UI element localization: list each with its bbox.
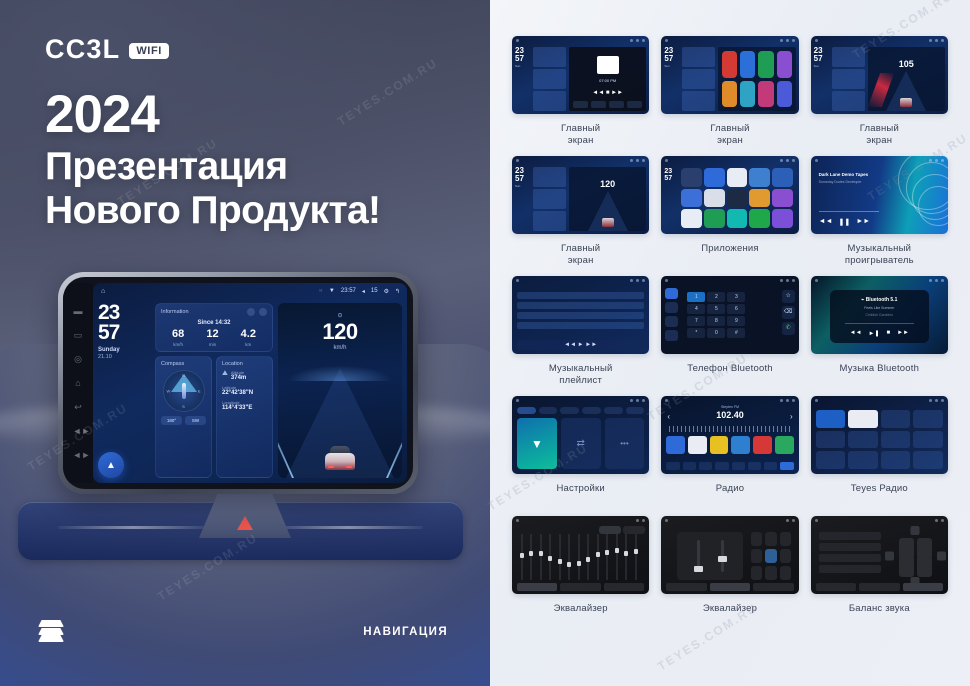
mode-key[interactable]: ▭ xyxy=(73,330,84,341)
thumbnail-equalizer[interactable] xyxy=(512,516,649,594)
gallery-item[interactable]: Teyes Радио xyxy=(811,396,948,507)
more-setting-card[interactable]: ••• xyxy=(605,418,645,469)
longitude-value: 114°4'33"E xyxy=(222,405,267,411)
stat-value: 4.2 xyxy=(241,329,256,340)
information-card[interactable]: Information Since 14:32 xyxy=(155,303,273,352)
clock-date: 21.10 xyxy=(98,354,150,360)
stat-unit: min xyxy=(206,342,218,347)
clock-column: 23 57 Sunday 21.10 ▲ xyxy=(98,303,150,478)
gallery-item[interactable]: 2357Sun 105 Главныйэкран xyxy=(811,36,948,147)
clock-hours: 23 xyxy=(98,303,150,323)
next-track-icon[interactable]: ►► xyxy=(897,330,909,337)
compass-west-label: W xyxy=(167,389,171,394)
gallery-caption: Музыкальныйплейлист xyxy=(549,363,613,387)
compass-direction: SW xyxy=(185,416,206,425)
radio-tuning-scale[interactable] xyxy=(669,426,790,432)
thumbnail-home-apps[interactable]: 2357Sun xyxy=(661,36,798,114)
radio-prev-icon[interactable]: ‹ xyxy=(667,412,670,421)
thumbnail-bluetooth-music[interactable]: ⌁ Bluetooth 5.1 Feels Like Summer Childi… xyxy=(811,276,948,354)
status-time: 23:57 xyxy=(341,288,356,294)
presentation-slide: TEYES.COM.RU TEYES.COM.RU TEYES.COM.RU T… xyxy=(0,0,970,686)
information-stats: 68 km/h 12 min 4.2 xyxy=(161,329,267,347)
stop-icon[interactable]: ■ xyxy=(886,330,890,337)
thumbnail-settings[interactable]: ▼ ⇄ ••• xyxy=(512,396,649,474)
logo-model: CC3L xyxy=(45,34,120,65)
thumbnail-apps[interactable]: 2357 xyxy=(661,156,798,234)
nav-key[interactable]: ◄► xyxy=(73,426,84,437)
stat-value: 68 xyxy=(172,329,184,340)
status-bar: ⌂ ⁙ ▼ 23:57 ◂ 15 ⚙ ↰ xyxy=(93,283,407,299)
thumbnail-sound-balance[interactable] xyxy=(811,516,948,594)
home-icon[interactable]: ⌂ xyxy=(101,288,105,295)
hero-panel: TEYES.COM.RU TEYES.COM.RU TEYES.COM.RU T… xyxy=(0,0,490,686)
call-icon[interactable]: ✆ xyxy=(782,322,795,335)
traffic-setting-card[interactable]: ⇄ xyxy=(561,418,601,469)
compass-dial: N S W E xyxy=(163,370,205,412)
thumbnail-speed-value: 105 xyxy=(899,59,914,69)
thumbnail-home-speed-red[interactable]: 2357Sun 105 xyxy=(811,36,948,114)
music-artist: Someday Dudes Developer xyxy=(819,180,862,184)
back-arrow-icon[interactable]: ↰ xyxy=(395,288,400,295)
bt-track-title: Feels Like Summer xyxy=(864,306,894,310)
music-track-title: Dark Lane Demo Tapes xyxy=(819,172,868,177)
wifi-icon: ▼ xyxy=(329,288,335,294)
gallery-item[interactable]: ◄◄ ► ►► Музыкальныйплейлист xyxy=(512,276,649,387)
gallery-item[interactable]: Баланс звука xyxy=(811,516,948,627)
thumbnail-speed-value: 120 xyxy=(600,179,615,189)
compass-heading: 180° xyxy=(161,416,182,425)
gallery-caption: Эквалайзер xyxy=(554,603,608,627)
stat-unit: km xyxy=(241,342,256,347)
backspace-icon[interactable]: ⌫ xyxy=(782,306,795,319)
gallery-caption: Музыка Bluetooth xyxy=(840,363,920,387)
product-logo: CC3L WIFI xyxy=(45,34,169,65)
bluetooth-version: Bluetooth 5.1 xyxy=(866,297,898,303)
head-unit-bezel: ▬ ▭ ◎ ⌂ ↩ ◄► ◄► ⌂ ⁙ ▼ xyxy=(58,272,418,494)
gallery-caption: Баланс звука xyxy=(849,603,910,627)
back-key[interactable]: ↩ xyxy=(73,402,84,413)
gallery-caption: Музыкальныйпроигрыватель xyxy=(845,243,914,267)
play-pause-icon[interactable]: ►❚ xyxy=(869,330,880,337)
gallery-caption: Главныйэкран xyxy=(860,123,899,147)
gallery-item[interactable]: 2357Sun 07:00 PM ◄◄ ■ ►► xyxy=(512,36,649,147)
gallery-item[interactable]: 123 456 789 *0# ☆ ⌫ ✆ Телефон Bluetooth xyxy=(661,276,798,387)
radio-band: Stepten FM xyxy=(721,405,739,409)
information-title: Information xyxy=(161,309,189,315)
compass-needle xyxy=(182,383,186,399)
gallery-caption: Эквалайзер xyxy=(703,603,757,627)
headline-year: 2024 xyxy=(45,88,380,141)
wifi-setting-card[interactable]: ▼ xyxy=(517,418,557,469)
signal-icon: ⁙ xyxy=(319,288,323,294)
headline-line-1: Презентация xyxy=(45,145,380,189)
compass-south-label: S xyxy=(182,404,185,409)
head-unit-screen[interactable]: ⌂ ⁙ ▼ 23:57 ◂ 15 ⚙ ↰ xyxy=(93,283,407,483)
volume-level: 15 xyxy=(371,288,378,294)
clock-minutes: 57 xyxy=(98,323,150,343)
speed-value: 120 xyxy=(322,319,357,345)
balance-left-button[interactable] xyxy=(885,552,894,561)
radio-frequency: 102.40 xyxy=(716,410,744,420)
thumbnail-equalizer-presets[interactable] xyxy=(661,516,798,594)
thumbnail-radio[interactable]: Stepten FM 102.40 ‹ › xyxy=(661,396,798,474)
previous-track-icon[interactable]: ◄◄ xyxy=(819,218,833,226)
info-settings-icon[interactable] xyxy=(247,308,255,316)
mute-key[interactable]: ◄► xyxy=(73,450,84,461)
gallery-item[interactable]: ▼ ⇄ ••• Настройки xyxy=(512,396,649,507)
volume-key[interactable]: ◎ xyxy=(73,354,84,365)
gallery-caption: Приложения xyxy=(701,243,759,267)
dashboard-illustration: ▬ ▭ ◎ ⌂ ↩ ◄► ◄► ⌂ ⁙ ▼ xyxy=(0,252,490,686)
power-key[interactable]: ▬ xyxy=(73,306,84,317)
layers-icon xyxy=(38,620,64,642)
thumbnail-bluetooth-phone[interactable]: 123 456 789 *0# ☆ ⌫ ✆ xyxy=(661,276,798,354)
thumbnail-teyes-radio[interactable] xyxy=(811,396,948,474)
gallery-item[interactable]: 2357 xyxy=(661,156,798,267)
stat-value: 12 xyxy=(206,329,218,340)
side-key-column: ▬ ▭ ◎ ⌂ ↩ ◄► ◄► xyxy=(63,283,93,483)
gallery-caption: Главныйэкран xyxy=(561,243,600,267)
more-icon: ••• xyxy=(620,439,628,448)
location-card[interactable]: Location ⛰ Altitude 374m xyxy=(216,356,273,478)
favorite-icon[interactable]: ☆ xyxy=(782,290,795,303)
home-key[interactable]: ⌂ xyxy=(73,378,84,389)
thumbnail-home-speed[interactable]: 2357Sun 120 xyxy=(512,156,649,234)
compass-east-label: E xyxy=(198,389,201,394)
compass-title: Compass xyxy=(161,361,184,367)
headline-block: 2024 Презентация Нового Продукта! xyxy=(45,88,380,232)
gallery-item[interactable]: 2357Sun xyxy=(661,36,798,147)
gallery-item[interactable]: Dark Lane Demo Tapes Someday Dudes Devel… xyxy=(811,156,948,267)
pause-icon[interactable]: ❚❚ xyxy=(839,218,851,226)
thumbnail-music-playlist[interactable]: ◄◄ ► ►► xyxy=(512,276,649,354)
gallery-caption: Телефон Bluetooth xyxy=(687,363,773,387)
compass-north-label: N xyxy=(182,373,185,378)
gallery-item[interactable]: Эквалайзер xyxy=(512,516,649,627)
volume-icon: ◂ xyxy=(362,288,365,295)
headline-line-2: Нового Продукта! xyxy=(45,189,380,233)
speed-panel[interactable]: ⊙ 120 km/h xyxy=(278,303,402,478)
speed-icon: ⊙ xyxy=(337,312,342,319)
balance-up-button[interactable] xyxy=(911,526,920,535)
information-since: Since 14:32 xyxy=(161,320,267,326)
latitude-value: 22°42'38"N xyxy=(222,390,267,396)
navigation-arrow-icon: ▲ xyxy=(106,460,116,471)
navigation-button[interactable]: ▲ xyxy=(98,452,124,478)
info-reset-icon[interactable] xyxy=(259,308,267,316)
gallery-item[interactable]: Stepten FM 102.40 ‹ › xyxy=(661,396,798,507)
altitude-icon: ⛰ xyxy=(222,370,228,378)
screenshot-gallery: TEYES.COM.RU TEYES.COM.RU TEYES.COM.RU T… xyxy=(490,0,970,686)
hazard-triangle-icon xyxy=(237,516,253,530)
wifi-icon: ▼ xyxy=(531,437,543,451)
gallery-caption: Главныйэкран xyxy=(561,123,600,147)
gallery-item[interactable]: 2357Sun 120 Главныйэкран xyxy=(512,156,649,267)
car-illustration xyxy=(325,444,355,470)
balance-right-button[interactable] xyxy=(937,552,946,561)
traffic-icon: ⇄ xyxy=(576,438,584,449)
bt-artist: Childish Gambino xyxy=(866,313,894,317)
gallery-caption: Teyes Радио xyxy=(851,483,908,507)
balance-pad[interactable] xyxy=(899,532,932,580)
location-title: Location xyxy=(222,361,243,367)
gallery-grid: 2357Sun 07:00 PM ◄◄ ■ ►► xyxy=(512,36,948,636)
previous-track-icon[interactable]: ◄◄ xyxy=(850,330,862,337)
navigation-label: НАВИГАЦИЯ xyxy=(363,626,448,638)
gear-icon[interactable]: ⚙ xyxy=(384,288,389,295)
clock-weekday: Sunday xyxy=(98,347,150,353)
gallery-item[interactable]: ⌁ Bluetooth 5.1 Feels Like Summer Childi… xyxy=(811,276,948,387)
logo-wifi-badge: WIFI xyxy=(129,43,169,59)
compass-card[interactable]: Compass N S W E xyxy=(155,356,212,478)
stat-unit: km/h xyxy=(172,342,184,347)
gallery-caption: Настройки xyxy=(556,483,604,507)
thumbnail-home-media[interactable]: 2357Sun 07:00 PM ◄◄ ■ ►► xyxy=(512,36,649,114)
gallery-caption: Главныйэкран xyxy=(710,123,749,147)
altitude-value: 374m xyxy=(231,375,246,381)
next-track-icon[interactable]: ►► xyxy=(856,218,870,226)
thumbnail-music-player[interactable]: Dark Lane Demo Tapes Someday Dudes Devel… xyxy=(811,156,948,234)
gallery-caption: Радио xyxy=(716,483,744,507)
gallery-item[interactable]: Эквалайзер xyxy=(661,516,798,627)
radio-next-icon[interactable]: › xyxy=(790,412,793,421)
bluetooth-icon: ⌁ xyxy=(861,297,864,303)
speed-unit: km/h xyxy=(333,345,346,351)
widget-column: Information Since 14:32 xyxy=(155,303,273,478)
